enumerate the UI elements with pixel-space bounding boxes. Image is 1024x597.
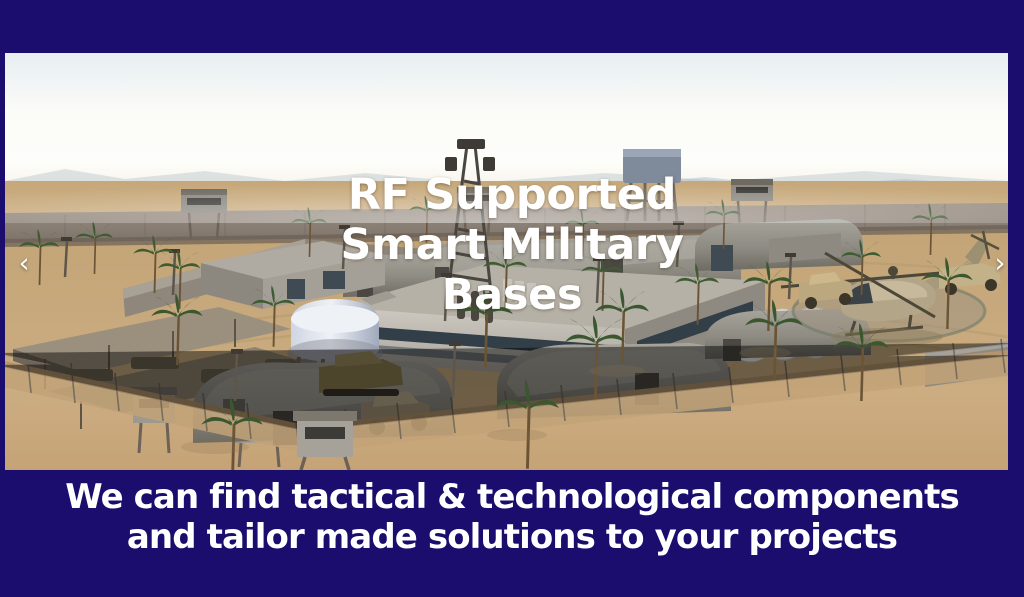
chevron-right-icon[interactable]: › xyxy=(980,243,1020,283)
tagline-line-1: We can find tactical & technological com… xyxy=(65,477,959,517)
chevron-left-icon[interactable]: ‹ xyxy=(4,243,44,283)
slider-banner: RF Supported Smart Military Bases ‹ › We… xyxy=(0,0,1024,597)
tagline-line-2: and tailor made solutions to your projec… xyxy=(127,517,897,557)
carousel-slide[interactable] xyxy=(5,53,1008,470)
tagline-band: We can find tactical & technological com… xyxy=(0,470,1024,597)
military-base-illustration xyxy=(5,53,1008,470)
